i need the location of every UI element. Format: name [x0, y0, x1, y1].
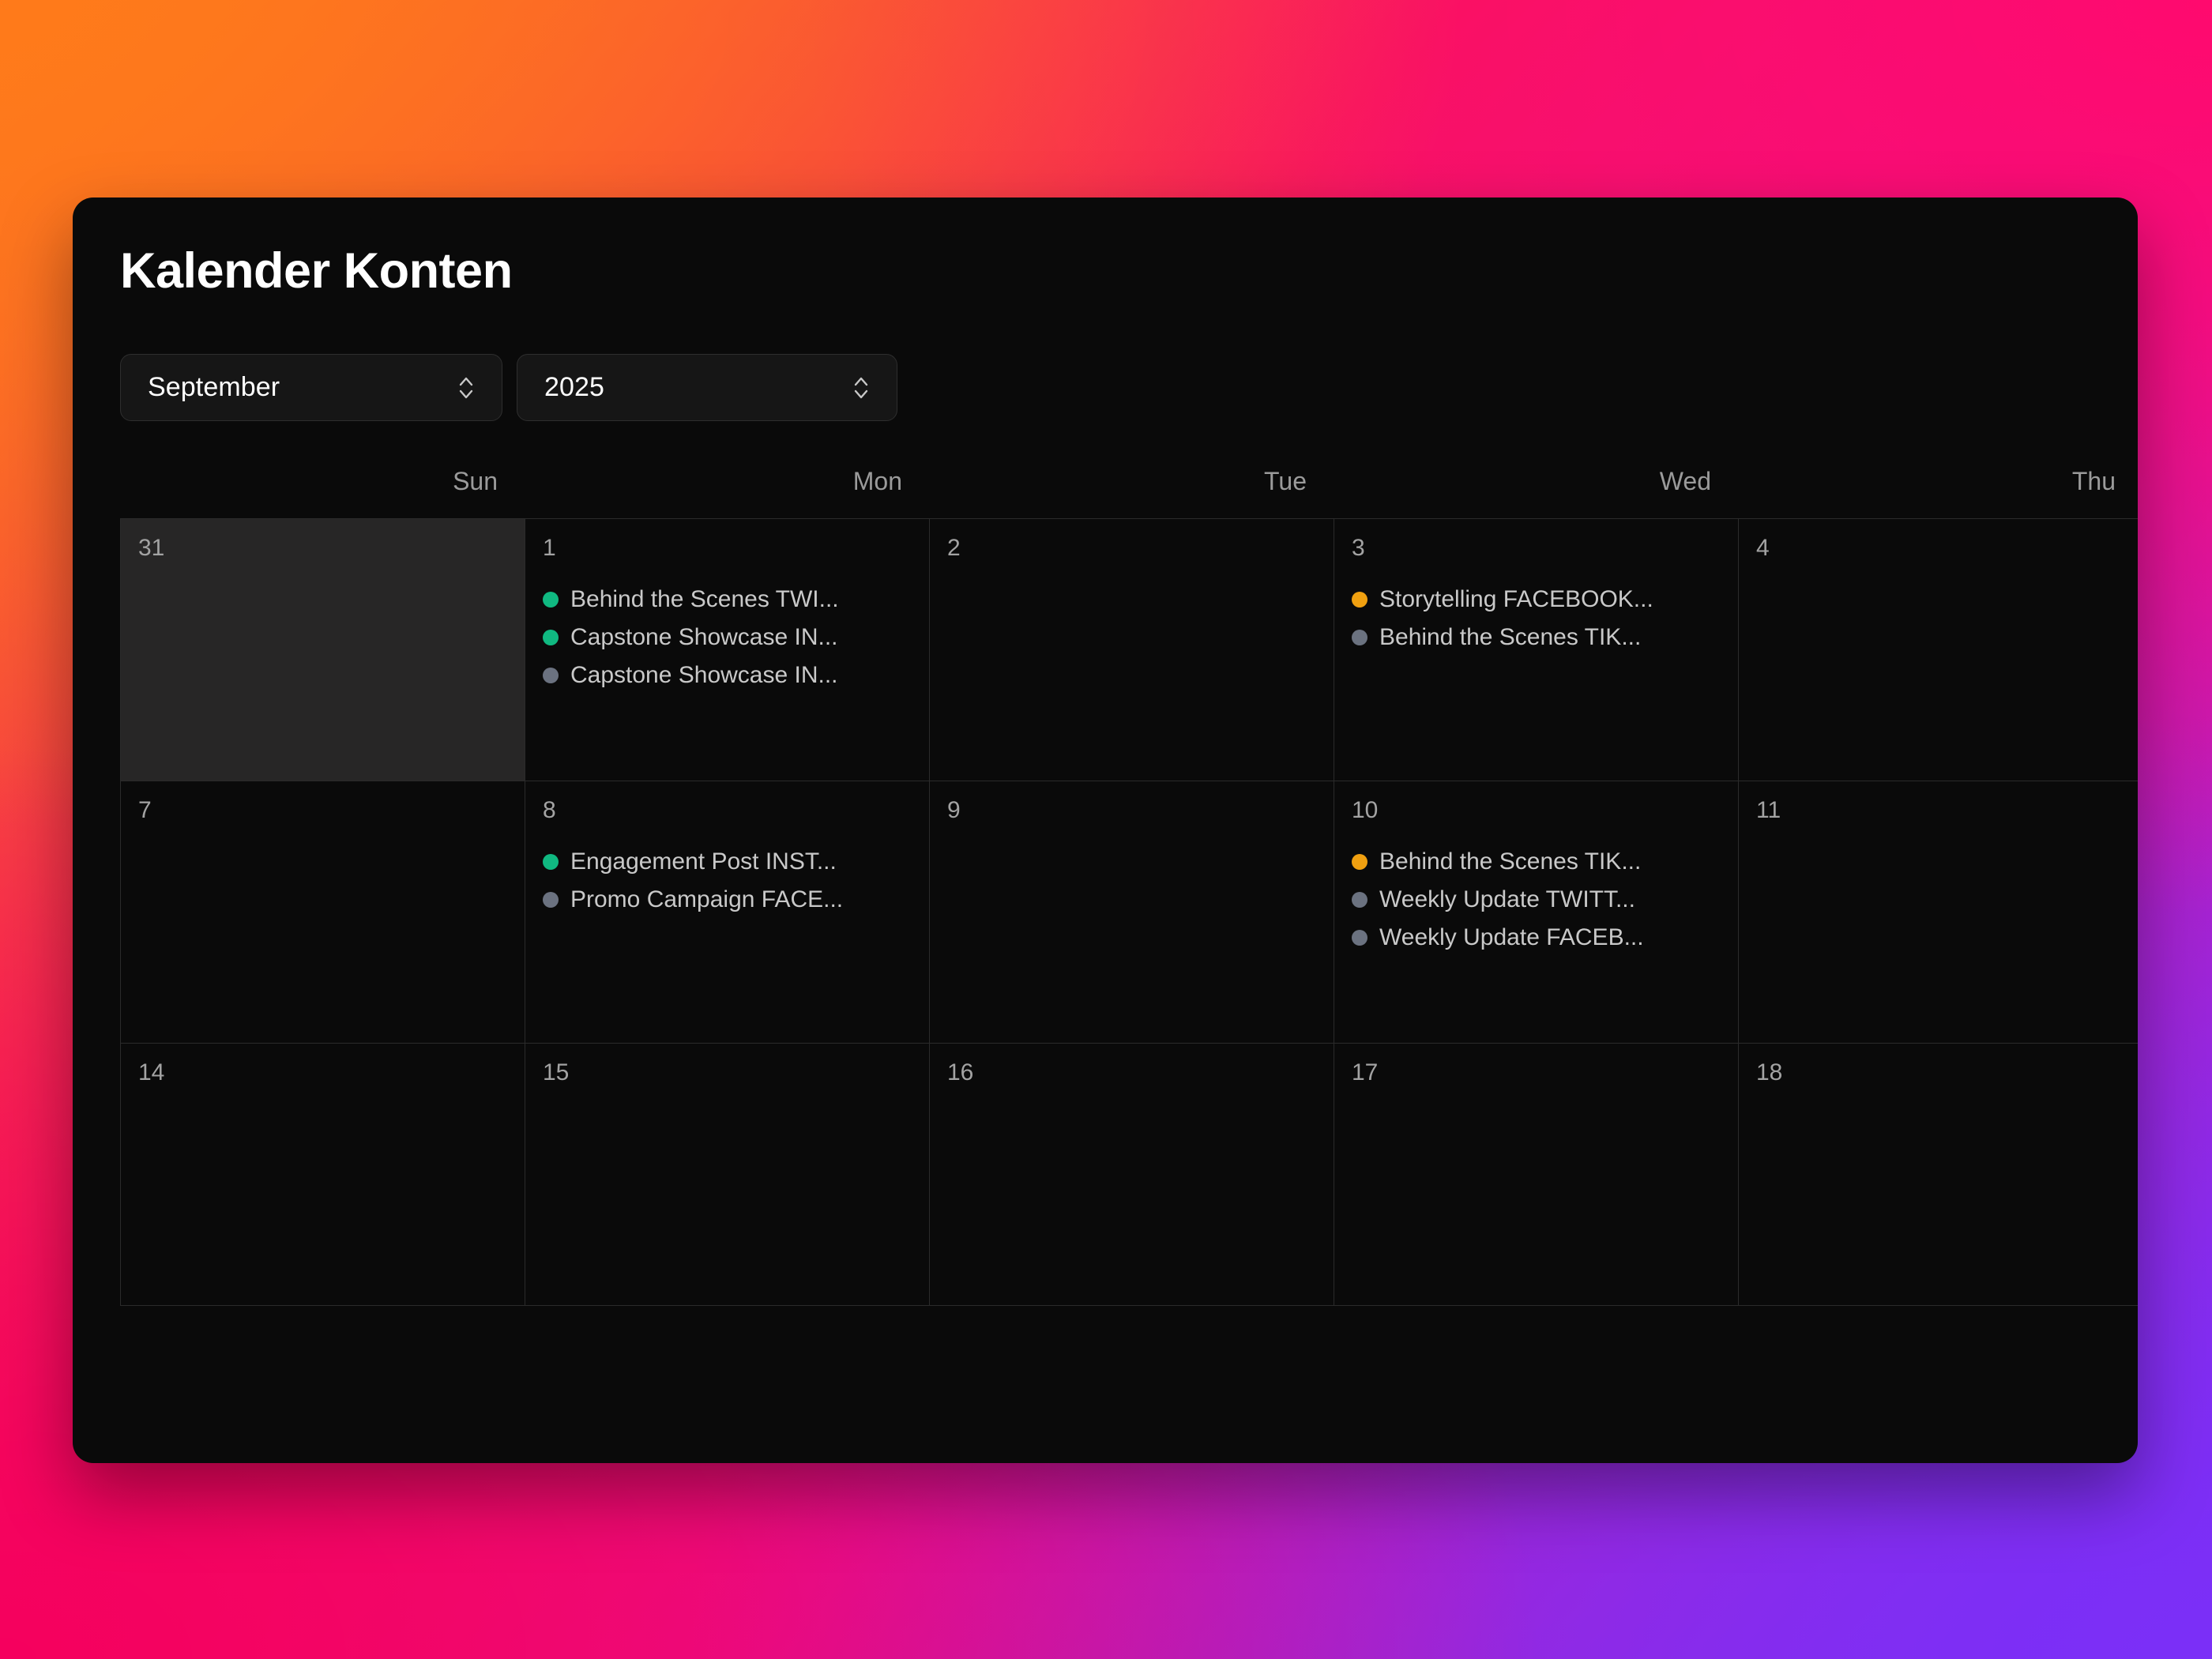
event-status-dot-gray	[543, 892, 559, 908]
calendar-event[interactable]: Storytelling FACEBOOK...	[1352, 581, 1722, 619]
day-number: 10	[1352, 799, 1722, 822]
chevron-up-down-icon	[852, 372, 870, 404]
weekday-header-row: SunMonTueWedThuFriSat	[120, 467, 2138, 518]
event-status-dot-gray	[543, 668, 559, 683]
event-status-dot-green	[543, 592, 559, 608]
event-title: Capstone Showcase IN...	[570, 661, 838, 690]
weekday-label-wed: Wed	[1334, 467, 1738, 518]
event-title: Behind the Scenes TIK...	[1379, 623, 1641, 652]
calendar-event[interactable]: Capstone Showcase IN...	[543, 619, 913, 656]
day-cell[interactable]: 16	[930, 1044, 1334, 1306]
app-background: Kalender Konten September 2025	[0, 0, 2212, 1659]
day-number: 17	[1352, 1061, 1722, 1085]
calendar-event[interactable]: Behind the Scenes TWI...	[543, 581, 913, 619]
event-status-dot-green	[543, 854, 559, 870]
day-number: 8	[543, 799, 913, 822]
day-events: Engagement Post INST...Promo Campaign FA…	[543, 843, 913, 919]
event-status-dot-gray	[1352, 930, 1367, 946]
weekday-label-tue: Tue	[929, 467, 1334, 518]
event-title: Engagement Post INST...	[570, 848, 837, 876]
day-cell[interactable]: 15	[525, 1044, 930, 1306]
day-cell[interactable]: 18	[1739, 1044, 2138, 1306]
calendar-grid: 311Behind the Scenes TWI...Capstone Show…	[120, 518, 2138, 1306]
day-cell[interactable]: 1Behind the Scenes TWI...Capstone Showca…	[525, 519, 930, 781]
page-title: Kalender Konten	[120, 245, 2138, 297]
day-events: Behind the Scenes TWI...Capstone Showcas…	[543, 581, 913, 694]
event-status-dot-green	[543, 630, 559, 645]
day-number: 31	[138, 536, 509, 560]
day-cell[interactable]: 11	[1739, 781, 2138, 1044]
day-number: 15	[543, 1061, 913, 1085]
event-status-dot-orange	[1352, 854, 1367, 870]
day-number: 4	[1756, 536, 2127, 560]
event-status-dot-gray	[1352, 892, 1367, 908]
day-cell[interactable]: 10Behind the Scenes TIK...Weekly Update …	[1334, 781, 1739, 1044]
day-number: 11	[1756, 799, 2127, 822]
weekday-label-thu: Thu	[1738, 467, 2138, 518]
calendar-card: Kalender Konten September 2025	[73, 197, 2138, 1463]
day-number: 7	[138, 799, 509, 822]
calendar-event[interactable]: Capstone Showcase IN...	[543, 656, 913, 694]
calendar-event[interactable]: Engagement Post INST...	[543, 843, 913, 881]
day-cell[interactable]: 3Storytelling FACEBOOK...Behind the Scen…	[1334, 519, 1739, 781]
day-cell[interactable]: 2	[930, 519, 1334, 781]
day-number: 1	[543, 536, 913, 560]
day-cell[interactable]: 7	[121, 781, 525, 1044]
event-title: Promo Campaign FACE...	[570, 886, 843, 914]
day-number: 14	[138, 1061, 509, 1085]
day-events: Storytelling FACEBOOK...Behind the Scene…	[1352, 581, 1722, 656]
calendar-event[interactable]: Weekly Update TWITT...	[1352, 881, 1722, 919]
day-number: 18	[1756, 1061, 2127, 1085]
calendar-event[interactable]: Behind the Scenes TIK...	[1352, 843, 1722, 881]
day-cell[interactable]: 9	[930, 781, 1334, 1044]
year-select-value: 2025	[517, 372, 604, 403]
day-number: 3	[1352, 536, 1722, 560]
day-events: Behind the Scenes TIK...Weekly Update TW…	[1352, 843, 1722, 957]
day-number: 2	[947, 536, 1318, 560]
day-cell[interactable]: 31	[121, 519, 525, 781]
weekday-label-mon: Mon	[525, 467, 929, 518]
event-title: Weekly Update FACEB...	[1379, 924, 1644, 952]
year-select[interactable]: 2025	[517, 354, 897, 421]
calendar-event[interactable]: Promo Campaign FACE...	[543, 881, 913, 919]
day-cell[interactable]: 4	[1739, 519, 2138, 781]
event-status-dot-orange	[1352, 592, 1367, 608]
weekday-label-sun: Sun	[120, 467, 525, 518]
event-title: Behind the Scenes TIK...	[1379, 848, 1641, 876]
chevron-up-down-icon	[457, 372, 475, 404]
calendar-event[interactable]: Weekly Update FACEB...	[1352, 919, 1722, 957]
event-title: Behind the Scenes TWI...	[570, 585, 839, 614]
day-cell[interactable]: 14	[121, 1044, 525, 1306]
day-number: 9	[947, 799, 1318, 822]
calendar-event[interactable]: Behind the Scenes TIK...	[1352, 619, 1722, 656]
day-cell[interactable]: 8Engagement Post INST...Promo Campaign F…	[525, 781, 930, 1044]
event-title: Storytelling FACEBOOK...	[1379, 585, 1653, 614]
event-title: Weekly Update TWITT...	[1379, 886, 1635, 914]
calendar-card-content: Kalender Konten September 2025	[73, 197, 2138, 1463]
day-number: 16	[947, 1061, 1318, 1085]
day-cell[interactable]: 17	[1334, 1044, 1739, 1306]
calendar-controls: September 2025	[120, 354, 2138, 421]
event-status-dot-gray	[1352, 630, 1367, 645]
event-title: Capstone Showcase IN...	[570, 623, 838, 652]
month-select[interactable]: September	[120, 354, 502, 421]
month-select-value: September	[121, 372, 280, 403]
